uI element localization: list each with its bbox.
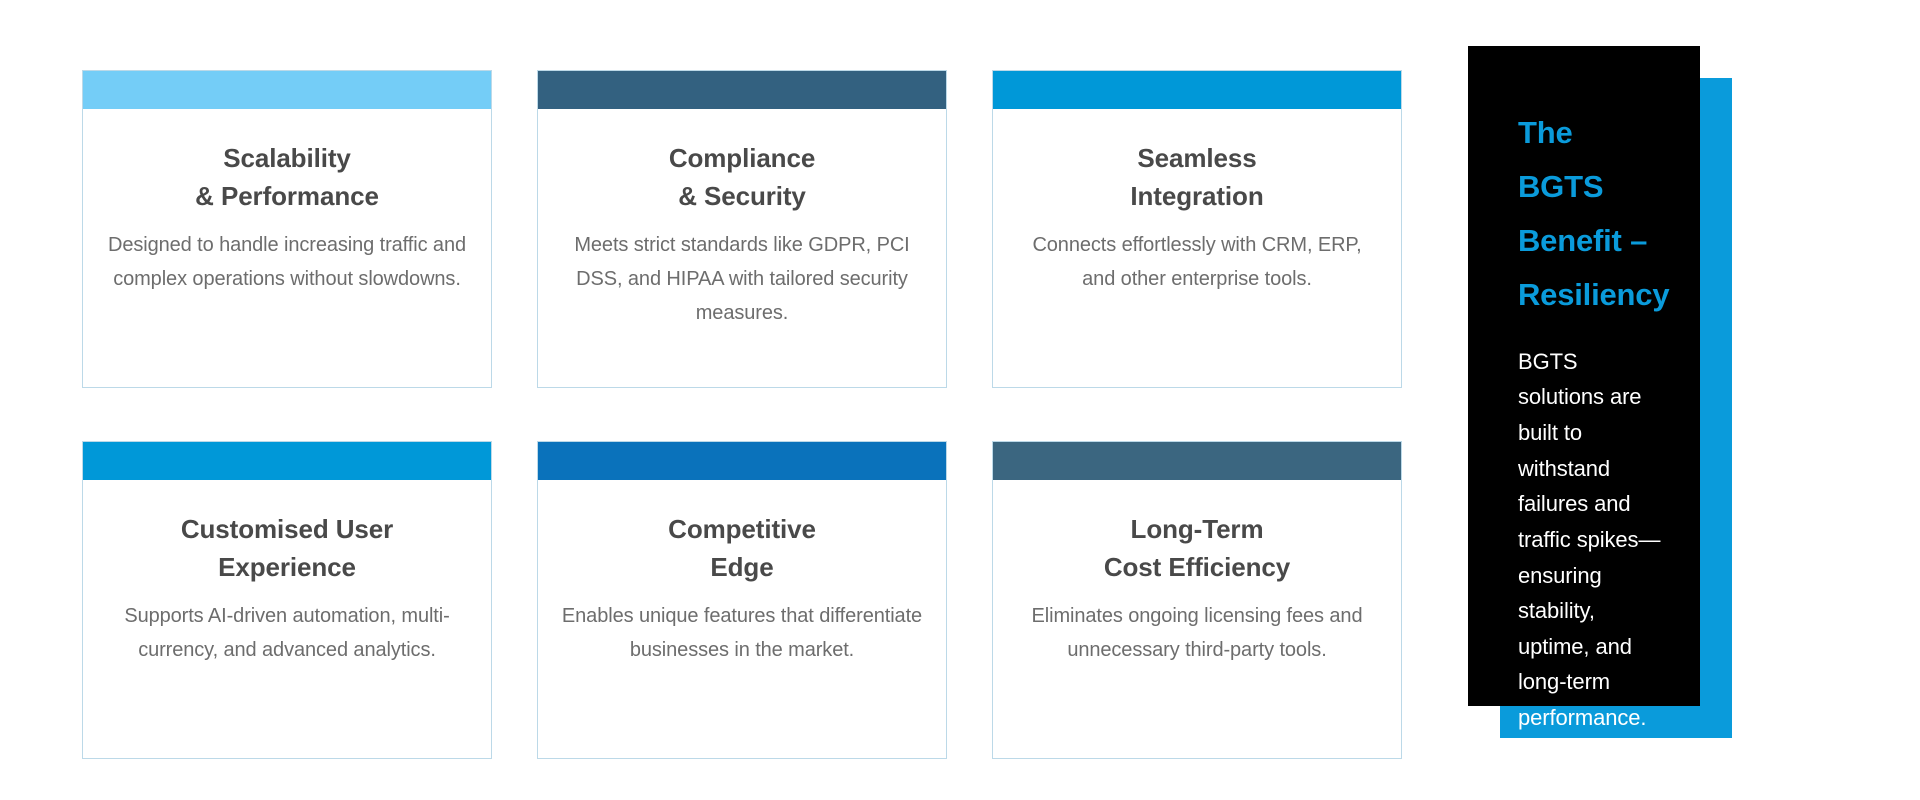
card-description: Meets strict standards like GDPR, PCI DS… — [560, 229, 924, 330]
card-description: Connects effortlessly with CRM, ERP, and… — [1015, 229, 1379, 296]
highlight-title: The BGTS Benefit – Resiliency — [1518, 106, 1664, 322]
card-description: Enables unique features that differentia… — [560, 600, 924, 667]
feature-card-customised-user-experience[interactable]: Customised User Experience Supports AI-d… — [82, 441, 492, 759]
card-accent-bar — [83, 71, 491, 109]
benefits-board: Scalability & Performance Designed to ha… — [0, 0, 1920, 800]
highlight-panel-bgts-benefit[interactable]: The BGTS Benefit – Resiliency BGTS solut… — [1468, 46, 1700, 706]
card-description: Designed to handle increasing traffic an… — [105, 229, 469, 296]
card-title: Seamless Integration — [1015, 139, 1379, 215]
feature-card-long-term-cost-efficiency[interactable]: Long-Term Cost Efficiency Eliminates ong… — [992, 441, 1402, 759]
feature-card-competitive-edge[interactable]: Competitive Edge Enables unique features… — [537, 441, 947, 759]
card-description: Eliminates ongoing licensing fees and un… — [1015, 600, 1379, 667]
card-title: Scalability & Performance — [105, 139, 469, 215]
card-title: Compliance & Security — [560, 139, 924, 215]
highlight-panel-wrapper: The BGTS Benefit – Resiliency BGTS solut… — [1468, 46, 1700, 706]
card-title: Long-Term Cost Efficiency — [1015, 510, 1379, 586]
card-body: Compliance & Security Meets strict stand… — [538, 109, 946, 387]
feature-card-seamless-integration[interactable]: Seamless Integration Connects effortless… — [992, 70, 1402, 388]
card-accent-bar — [83, 442, 491, 480]
card-body: Scalability & Performance Designed to ha… — [83, 109, 491, 387]
card-accent-bar — [993, 71, 1401, 109]
card-accent-bar — [538, 442, 946, 480]
feature-card-scalability-performance[interactable]: Scalability & Performance Designed to ha… — [82, 70, 492, 388]
card-body: Competitive Edge Enables unique features… — [538, 480, 946, 758]
card-body: Long-Term Cost Efficiency Eliminates ong… — [993, 480, 1401, 758]
card-body: Customised User Experience Supports AI-d… — [83, 480, 491, 758]
card-accent-bar — [993, 442, 1401, 480]
card-description: Supports AI-driven automation, multi-cur… — [105, 600, 469, 667]
card-accent-bar — [538, 71, 946, 109]
feature-cards-grid: Scalability & Performance Designed to ha… — [82, 70, 1412, 759]
card-body: Seamless Integration Connects effortless… — [993, 109, 1401, 387]
card-title: Competitive Edge — [560, 510, 924, 586]
feature-card-compliance-security[interactable]: Compliance & Security Meets strict stand… — [537, 70, 947, 388]
card-title: Customised User Experience — [105, 510, 469, 586]
highlight-description: BGTS solutions are built to withstand fa… — [1518, 344, 1664, 736]
